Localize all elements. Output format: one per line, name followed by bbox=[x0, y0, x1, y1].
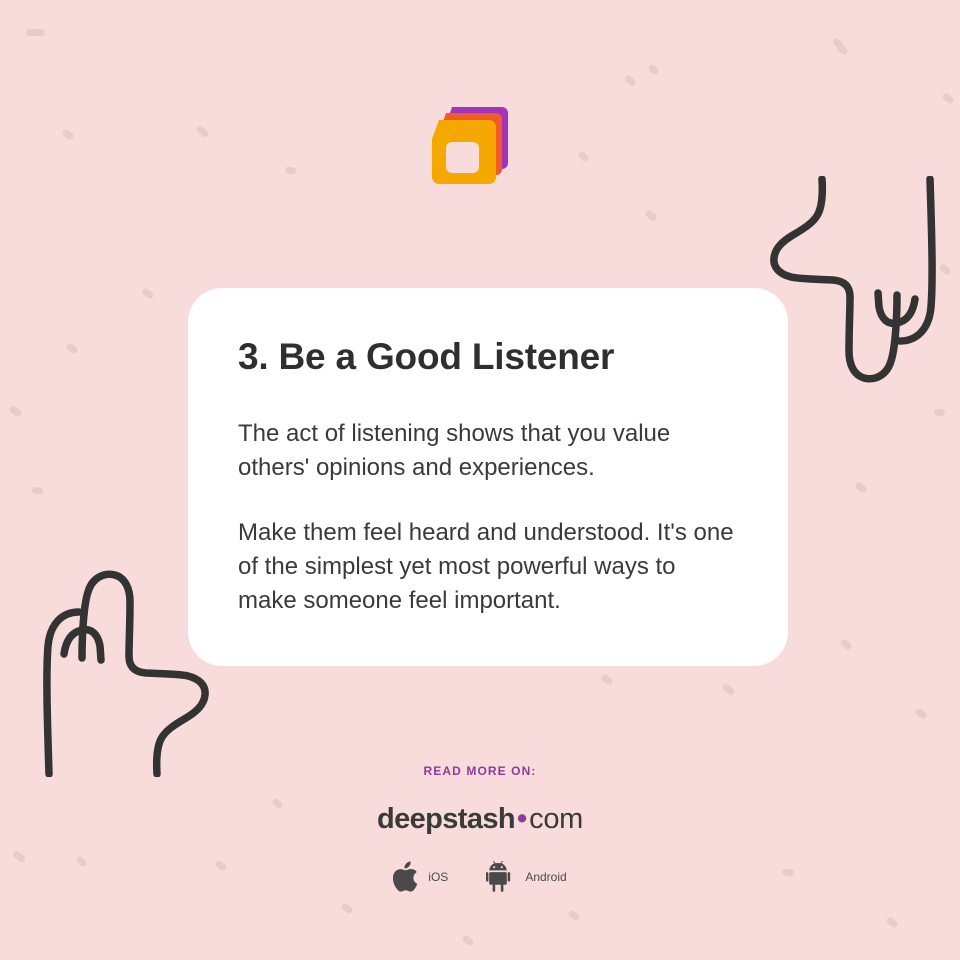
confetti-dash bbox=[914, 707, 928, 720]
confetti-dash bbox=[600, 673, 614, 686]
confetti-dash bbox=[141, 287, 155, 300]
brand-dot-icon: • bbox=[515, 803, 529, 835]
confetti-dash bbox=[647, 63, 660, 75]
confetti-dash bbox=[831, 37, 845, 50]
confetti-dash bbox=[461, 934, 475, 947]
read-more-label: READ MORE ON: bbox=[0, 765, 960, 777]
store-badge-android[interactable]: Android bbox=[486, 861, 566, 892]
confetti-dash bbox=[61, 128, 75, 141]
brand-name: deepstash bbox=[377, 803, 515, 835]
confetti-dash bbox=[32, 487, 44, 495]
card-title: 3. Be a Good Listener bbox=[238, 336, 738, 379]
confetti-dash bbox=[567, 909, 581, 922]
confetti-dash bbox=[195, 125, 209, 139]
confetti-dash bbox=[340, 902, 354, 915]
store-badge-ios[interactable]: iOS bbox=[393, 861, 448, 892]
confetti-dash bbox=[644, 209, 658, 222]
logo-inner-cutout bbox=[446, 142, 479, 173]
confetti-dash bbox=[941, 92, 955, 105]
confetti-dash bbox=[8, 405, 23, 418]
confetti-dash bbox=[934, 409, 946, 417]
brand-wordmark[interactable]: deepstash•com bbox=[0, 805, 960, 834]
confetti-dash bbox=[885, 916, 899, 929]
card-paragraph-2: Make them feel heard and understood. It'… bbox=[238, 516, 738, 618]
confetti-dash bbox=[623, 74, 637, 87]
store-label-android: Android bbox=[525, 870, 566, 884]
confetti-dash bbox=[577, 150, 590, 162]
confetti-dash bbox=[938, 263, 952, 276]
card-paragraph-1: The act of listening shows that you valu… bbox=[238, 417, 738, 485]
idea-card: 3. Be a Good Listener The act of listeni… bbox=[188, 288, 788, 666]
confetti-dash bbox=[26, 29, 45, 36]
confetti-dash bbox=[839, 638, 853, 651]
confetti-dash bbox=[835, 43, 849, 56]
apple-icon bbox=[393, 861, 419, 892]
poster-canvas: 3. Be a Good Listener The act of listeni… bbox=[0, 0, 960, 960]
confetti-dash bbox=[285, 166, 297, 174]
store-label-ios: iOS bbox=[428, 870, 448, 884]
confetti-dash bbox=[854, 481, 868, 494]
android-icon bbox=[486, 861, 516, 892]
deepstash-logo[interactable] bbox=[428, 104, 520, 196]
confetti-dash bbox=[721, 683, 736, 697]
store-badges: iOS Android bbox=[0, 861, 960, 892]
brand-tld: com bbox=[529, 803, 583, 835]
footer: READ MORE ON: deepstash•com iOS bbox=[0, 765, 960, 892]
confetti-dash bbox=[65, 342, 79, 355]
